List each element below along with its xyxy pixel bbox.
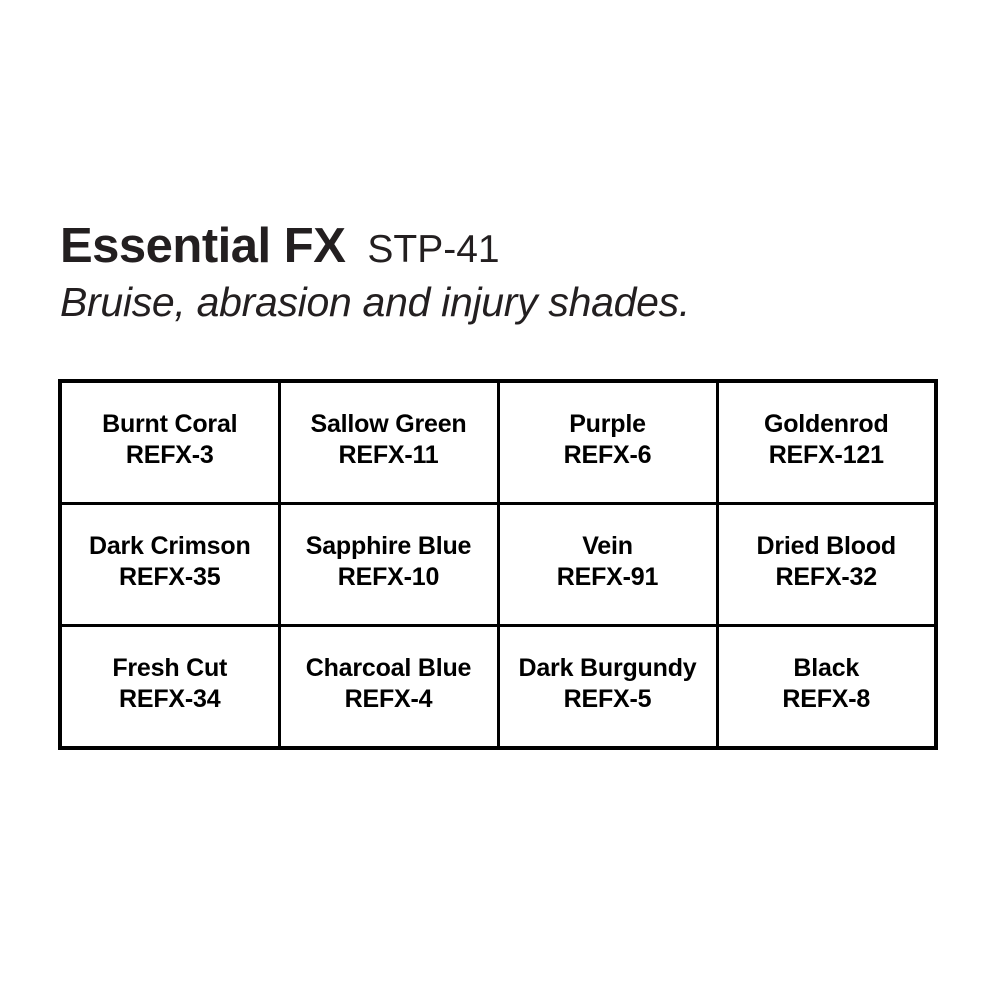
shade-cell: Goldenrod REFX-121: [717, 381, 936, 504]
product-sku-code: STP-41: [367, 230, 499, 269]
shade-cell: Charcoal Blue REFX-4: [279, 626, 498, 749]
shade-name: Sapphire Blue: [287, 531, 491, 562]
shade-code: REFX-5: [506, 684, 710, 715]
shade-name: Vein: [506, 531, 710, 562]
product-shade-chart: Essential FX STP-41 Bruise, abrasion and…: [0, 0, 1000, 1000]
shade-cell: Dark Burgundy REFX-5: [498, 626, 717, 749]
shade-cell: Sapphire Blue REFX-10: [279, 504, 498, 626]
shade-code: REFX-91: [506, 562, 710, 593]
shade-code: REFX-10: [287, 562, 491, 593]
shade-name: Fresh Cut: [68, 653, 272, 684]
shade-name: Dark Burgundy: [506, 653, 710, 684]
shade-name: Charcoal Blue: [287, 653, 491, 684]
shade-code: REFX-121: [725, 440, 929, 471]
shade-code: REFX-6: [506, 440, 710, 471]
shade-code: REFX-34: [68, 684, 272, 715]
shade-cell: Dried Blood REFX-32: [717, 504, 936, 626]
shade-code: REFX-11: [287, 440, 491, 471]
shade-name: Dark Crimson: [68, 531, 272, 562]
table-row: Dark Crimson REFX-35 Sapphire Blue REFX-…: [60, 504, 936, 626]
shade-name: Dried Blood: [725, 531, 929, 562]
page-title: Essential FX STP-41: [60, 222, 940, 271]
table-row: Burnt Coral REFX-3 Sallow Green REFX-11 …: [60, 381, 936, 504]
table-row: Fresh Cut REFX-34 Charcoal Blue REFX-4 D…: [60, 626, 936, 749]
shade-name: Burnt Coral: [68, 409, 272, 440]
shade-code: REFX-35: [68, 562, 272, 593]
shade-name: Black: [725, 653, 929, 684]
shade-cell: Sallow Green REFX-11: [279, 381, 498, 504]
shade-table: Burnt Coral REFX-3 Sallow Green REFX-11 …: [58, 379, 938, 750]
shade-cell: Fresh Cut REFX-34: [60, 626, 279, 749]
shade-cell: Dark Crimson REFX-35: [60, 504, 279, 626]
shade-cell: Burnt Coral REFX-3: [60, 381, 279, 504]
shade-code: REFX-32: [725, 562, 929, 593]
shade-name: Purple: [506, 409, 710, 440]
shade-code: REFX-8: [725, 684, 929, 715]
shade-name: Sallow Green: [287, 409, 491, 440]
shade-code: REFX-4: [287, 684, 491, 715]
shade-cell: Purple REFX-6: [498, 381, 717, 504]
page-subtitle: Bruise, abrasion and injury shades.: [60, 281, 940, 324]
shade-cell: Vein REFX-91: [498, 504, 717, 626]
product-line-name: Essential FX: [60, 222, 345, 271]
shade-code: REFX-3: [68, 440, 272, 471]
chart-header: Essential FX STP-41 Bruise, abrasion and…: [60, 222, 940, 324]
shade-name: Goldenrod: [725, 409, 929, 440]
shade-cell: Black REFX-8: [717, 626, 936, 749]
